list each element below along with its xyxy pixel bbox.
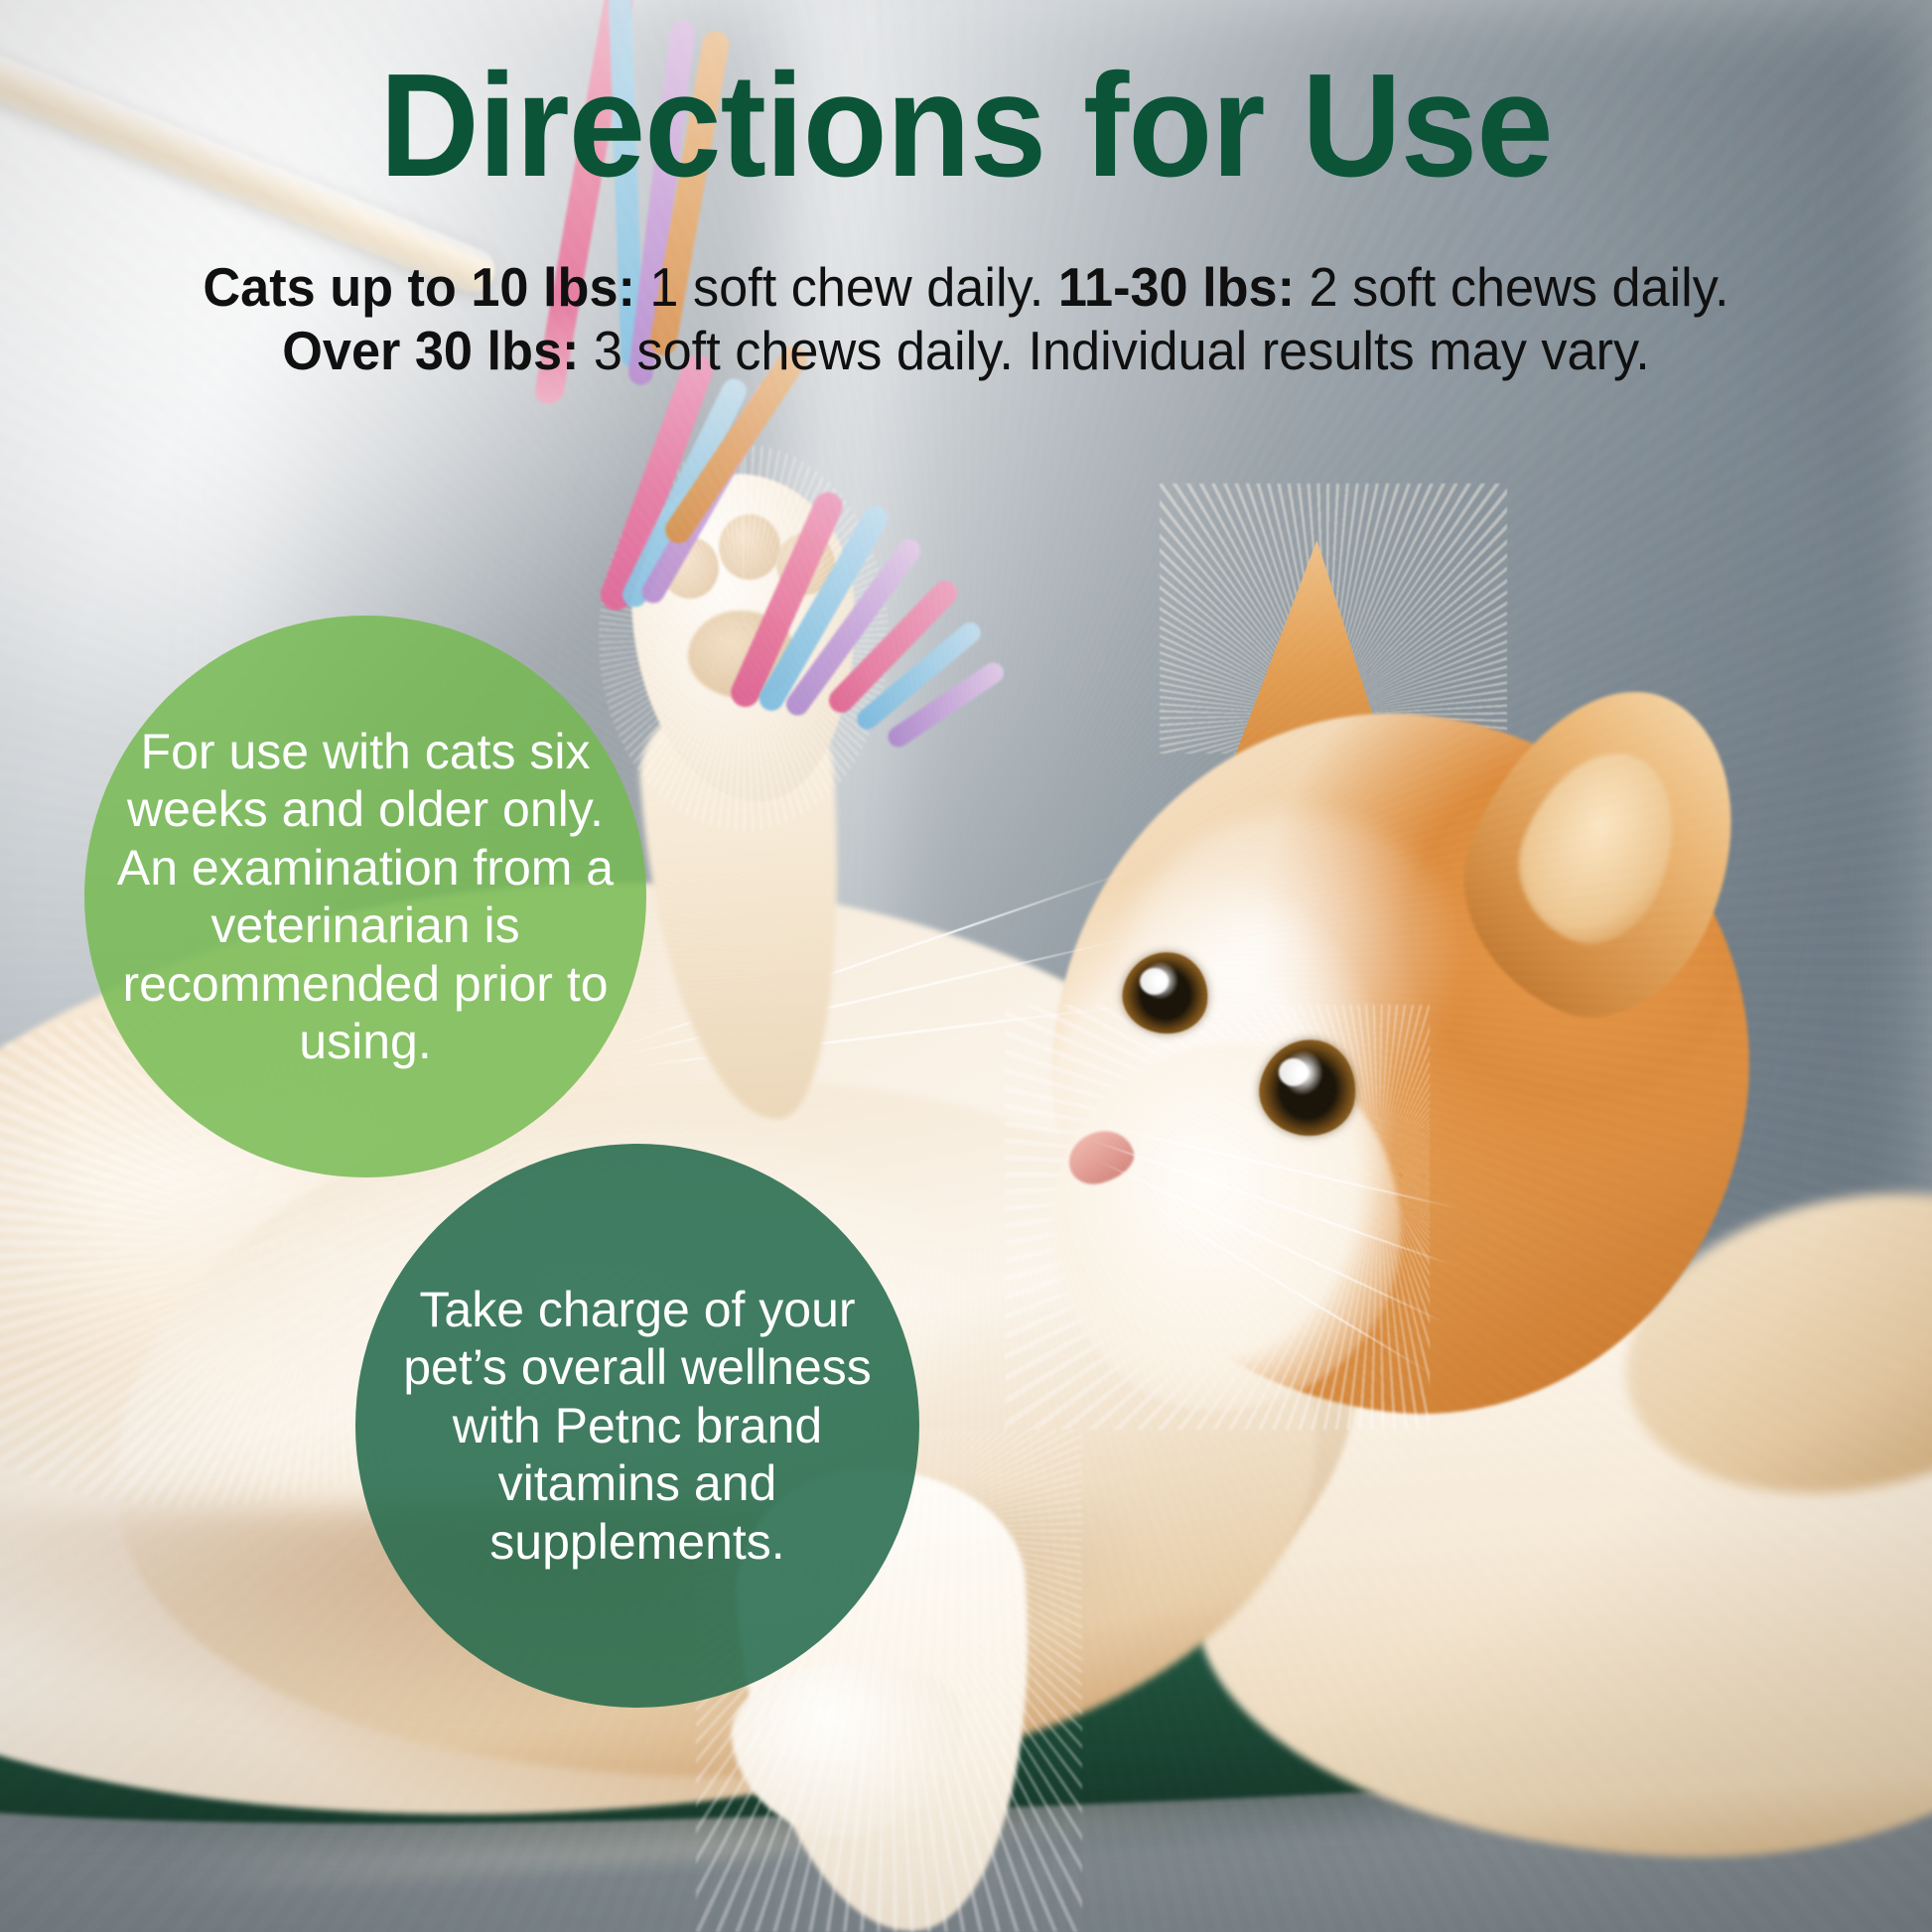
promo-graphic: Directions for Use Cats up to 10 lbs: 1 … bbox=[0, 0, 1932, 1932]
dosage-weight-label-2: 11-30 lbs: bbox=[1058, 256, 1295, 318]
callout-age-requirement: For use with cats six weeks and older on… bbox=[84, 616, 646, 1177]
page-title: Directions for Use bbox=[58, 52, 1873, 202]
callout-brand-message: Take charge of your pet’s overall wellne… bbox=[355, 1144, 919, 1708]
dosage-line-2: Over 30 lbs: 3 soft chews daily. Individ… bbox=[49, 320, 1884, 382]
callout-age-requirement-text: For use with cats six weeks and older on… bbox=[100, 723, 630, 1071]
dosage-amount-1: 1 soft chew daily. bbox=[635, 256, 1058, 318]
dosage-amount-3: 3 soft chews daily. Individual results m… bbox=[579, 320, 1649, 381]
dosage-amount-2: 2 soft chews daily. bbox=[1295, 256, 1729, 318]
callout-brand-message-text: Take charge of your pet’s overall wellne… bbox=[371, 1281, 903, 1572]
dosage-line-1: Cats up to 10 lbs: 1 soft chew daily. 11… bbox=[49, 256, 1884, 319]
dosage-weight-label-3: Over 30 lbs: bbox=[282, 320, 579, 381]
dosage-weight-label-1: Cats up to 10 lbs: bbox=[203, 256, 634, 318]
